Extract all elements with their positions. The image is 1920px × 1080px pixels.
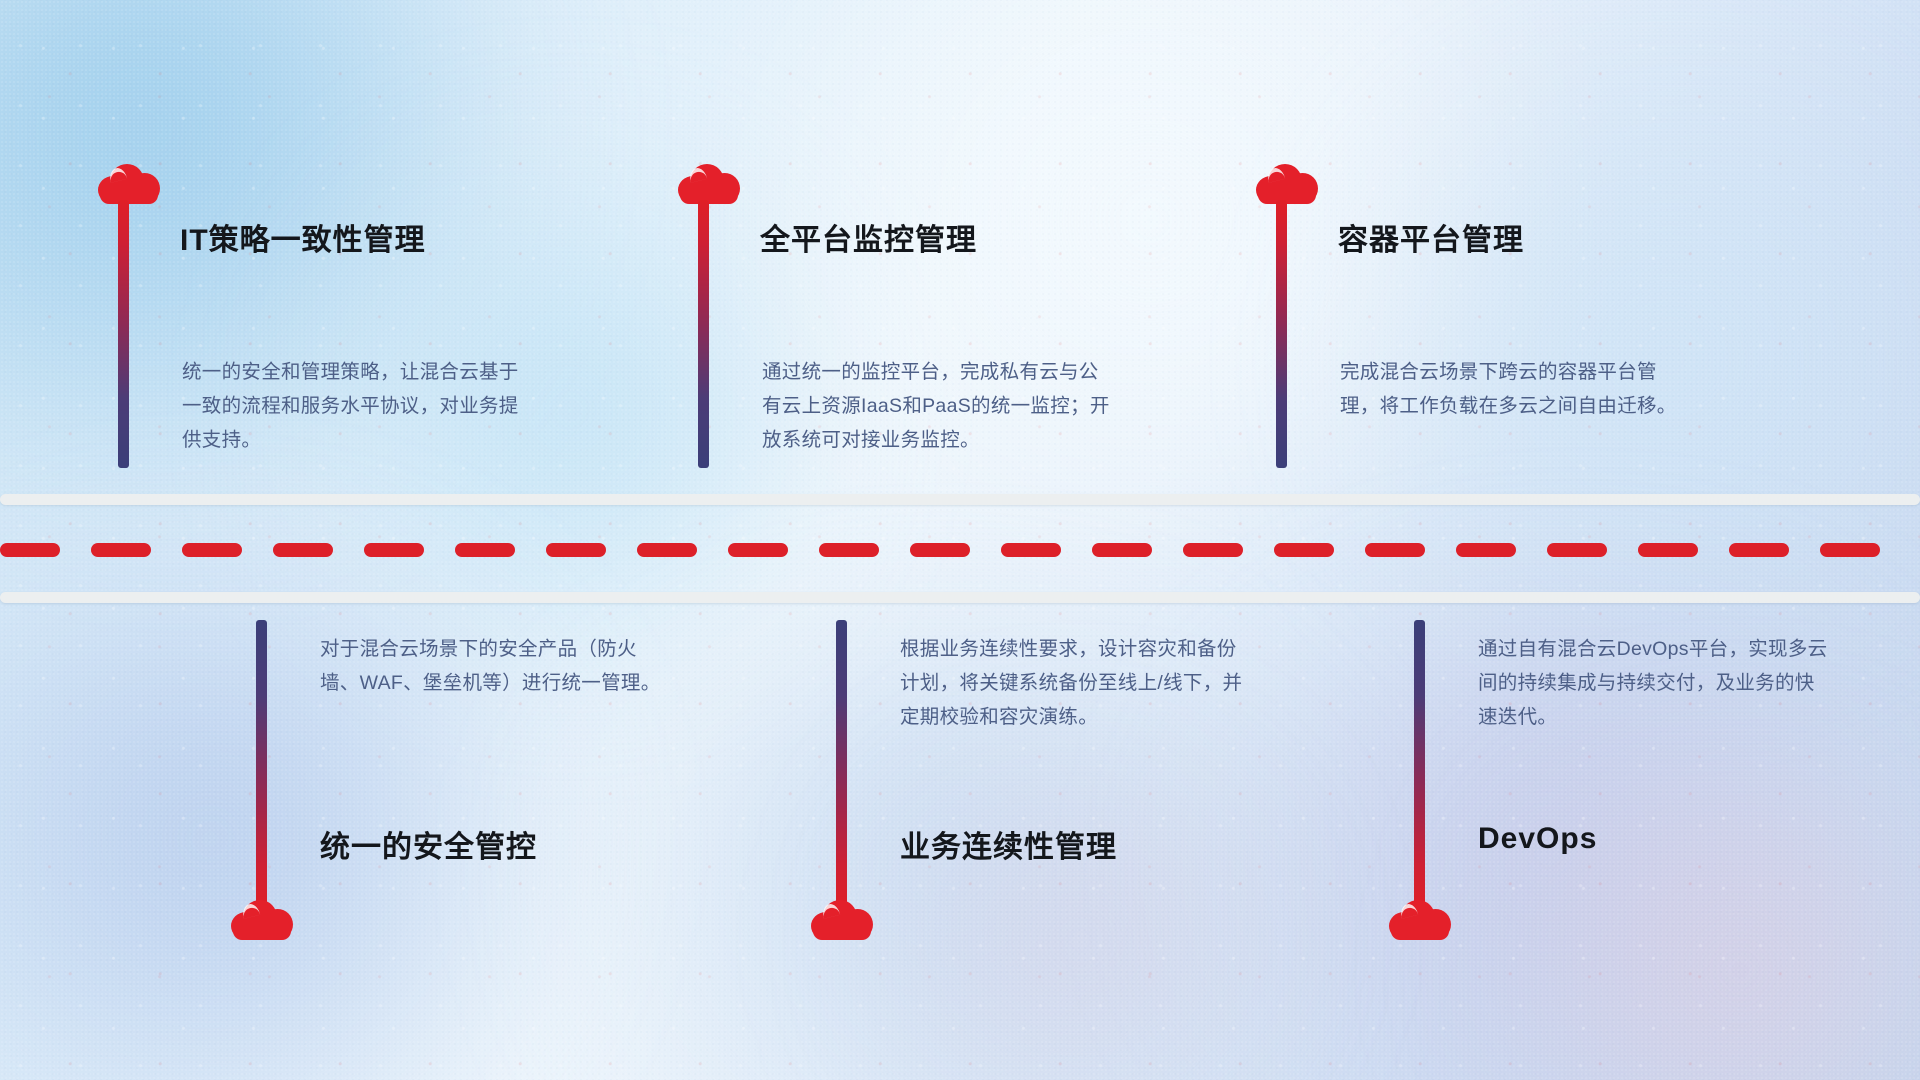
road-dash-segment bbox=[182, 543, 242, 557]
road-dash-segment bbox=[364, 543, 424, 557]
connector-stem bbox=[1414, 620, 1425, 912]
road-dash-segment bbox=[1638, 543, 1698, 557]
road-dash-segment bbox=[0, 543, 60, 557]
card-heading: 全平台监控管理 bbox=[760, 215, 977, 259]
road-dash-segment bbox=[1274, 543, 1334, 557]
road-dash-segment bbox=[91, 543, 151, 557]
connector-stem bbox=[118, 200, 129, 468]
connector-stem bbox=[256, 620, 267, 912]
road-edge-line-bottom bbox=[0, 592, 1920, 603]
cloud-icon bbox=[98, 162, 160, 204]
road-dash-segment bbox=[1183, 543, 1243, 557]
road-dash-segment bbox=[1820, 543, 1880, 557]
card-body-text: 根据业务连续性要求，设计容灾和备份计划，将关键系统备份至线上/线下，并定期校验和… bbox=[900, 632, 1252, 734]
connector-stem bbox=[1276, 200, 1287, 468]
infographic-canvas: IT策略一致性管理 统一的安全和管理策略，让混合云基于一致的流程和服务水平协议，… bbox=[0, 0, 1920, 1080]
card-body-text: 完成混合云场景下跨云的容器平台管理，将工作负载在多云之间自由迁移。 bbox=[1340, 355, 1696, 423]
road-dash-segment bbox=[1001, 543, 1061, 557]
card-body-text: 对于混合云场景下的安全产品（防火墙、WAF、堡垒机等）进行统一管理。 bbox=[320, 632, 672, 700]
card-heading: IT策略一致性管理 bbox=[180, 215, 426, 259]
road-dash-segment bbox=[1092, 543, 1152, 557]
road-dash-segment bbox=[1456, 543, 1516, 557]
cloud-icon bbox=[231, 898, 293, 940]
road-dash-segment bbox=[1365, 543, 1425, 557]
road-dash-segment bbox=[819, 543, 879, 557]
road-dash-segment bbox=[728, 543, 788, 557]
card-body-text: 通过统一的监控平台，完成私有云与公有云上资源IaaS和PaaS的统一监控；开放系… bbox=[762, 355, 1118, 457]
road-dash-segment bbox=[455, 543, 515, 557]
road-dash-segment bbox=[910, 543, 970, 557]
road-edge-line-top bbox=[0, 494, 1920, 505]
cloud-icon bbox=[1389, 898, 1451, 940]
card-heading: 容器平台管理 bbox=[1338, 215, 1524, 259]
cloud-icon bbox=[678, 162, 740, 204]
connector-stem bbox=[698, 200, 709, 468]
card-body-text: 统一的安全和管理策略，让混合云基于一致的流程和服务水平协议，对业务提供支持。 bbox=[182, 355, 534, 457]
road-dash-segment bbox=[1729, 543, 1789, 557]
cloud-icon bbox=[1256, 162, 1318, 204]
cloud-icon bbox=[811, 898, 873, 940]
road-center-dashes bbox=[0, 543, 1920, 557]
card-heading: 业务连续性管理 bbox=[900, 822, 1117, 866]
card-heading: 统一的安全管控 bbox=[320, 822, 537, 866]
road-dash-segment bbox=[546, 543, 606, 557]
road-dash-segment bbox=[273, 543, 333, 557]
card-heading: DevOps bbox=[1478, 822, 1597, 856]
connector-stem bbox=[836, 620, 847, 912]
road-dash-segment bbox=[637, 543, 697, 557]
card-body-text: 通过自有混合云DevOps平台，实现多云间的持续集成与持续交付，及业务的快速迭代… bbox=[1478, 632, 1830, 734]
road-dash-segment bbox=[1547, 543, 1607, 557]
